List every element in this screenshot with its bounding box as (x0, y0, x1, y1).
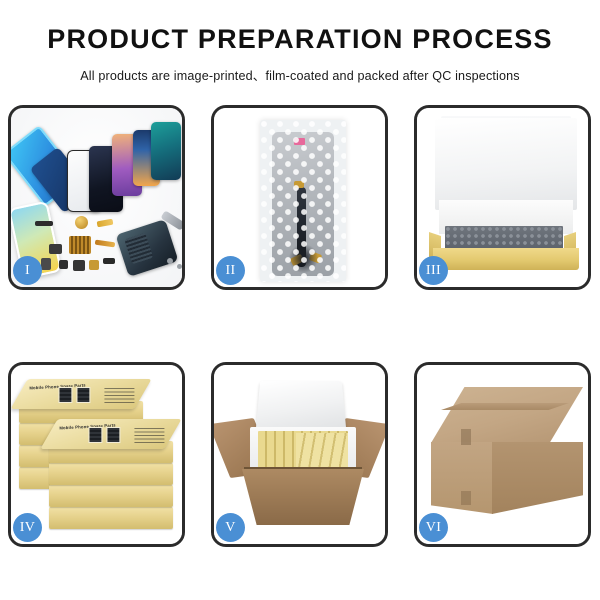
sealed-carton (431, 387, 583, 515)
step-badge-6: VI (419, 513, 448, 542)
stacked-box-lid: Mobile Phone Spare Parts (40, 419, 181, 449)
process-step-panel-3: III (414, 105, 591, 290)
box-stack: Mobile Phone Spare Parts Mobile Phone Sp… (17, 379, 177, 529)
stacked-box-lid: Mobile Phone Spare Parts (11, 379, 152, 409)
flex-cable-part-icon (95, 240, 116, 248)
carton-right-face-icon (492, 442, 583, 514)
logic-board-part-icon (69, 236, 91, 254)
process-steps-grid: I II (8, 105, 592, 547)
box-window-icon (58, 387, 72, 403)
bubble-texture-overlay (260, 120, 346, 282)
small-component-icon (103, 258, 115, 264)
small-component-icon (59, 260, 68, 269)
process-step-panel-1: I (8, 105, 185, 290)
carton-edge-notch-icon (461, 429, 471, 445)
step-badge-1: I (13, 256, 42, 285)
carton-edge-notch-icon (461, 491, 471, 505)
teal-phone-display-icon (151, 122, 181, 180)
screw-icon (167, 258, 173, 264)
step-badge-3: III (419, 256, 448, 285)
process-step-panel-5: V (211, 362, 388, 547)
carton-tape-seam-icon (441, 403, 569, 410)
white-foam-lid-icon (435, 118, 577, 210)
small-component-icon (49, 244, 62, 254)
small-component-icon (89, 260, 99, 270)
box-window-icon (76, 387, 90, 403)
gold-coil-part-icon (75, 216, 88, 229)
process-step-panel-4: Mobile Phone Spare Parts Mobile Phone Sp… (8, 362, 185, 547)
kraft-box-front-icon (433, 248, 579, 270)
stacked-box (49, 507, 173, 529)
bubble-wrap-package (260, 120, 346, 282)
screw-icon (177, 264, 182, 269)
box-spec-lines-icon (134, 427, 164, 443)
earpiece-part-icon (35, 221, 53, 226)
box-window-icon (106, 427, 120, 443)
phone-rear-housing-icon (115, 219, 178, 277)
flex-cable-part-icon (97, 219, 114, 228)
page-title: PRODUCT PREPARATION PROCESS (0, 25, 600, 55)
small-component-icon (73, 260, 85, 271)
poster-header: PRODUCT PREPARATION PROCESS All products… (0, 0, 600, 84)
process-step-panel-2: II (211, 105, 388, 290)
foam-lid-icon (256, 381, 347, 432)
stacked-box (49, 463, 173, 485)
page-subtitle: All products are image-printed、film-coat… (0, 65, 600, 84)
box-window-icon (88, 427, 102, 443)
carton-top-face-icon (431, 387, 583, 443)
step-badge-2: II (216, 256, 245, 285)
product-preparation-poster: PRODUCT PREPARATION PROCESS All products… (0, 0, 600, 600)
carton-body-icon (242, 469, 364, 525)
step-badge-4: IV (13, 513, 42, 542)
small-component-icon (41, 258, 51, 270)
packed-yellow-boxes-icon (296, 433, 348, 467)
stacked-box (49, 485, 173, 507)
process-step-panel-6: VI (414, 362, 591, 547)
step-badge-5: V (216, 513, 245, 542)
box-spec-lines-icon (104, 387, 134, 403)
